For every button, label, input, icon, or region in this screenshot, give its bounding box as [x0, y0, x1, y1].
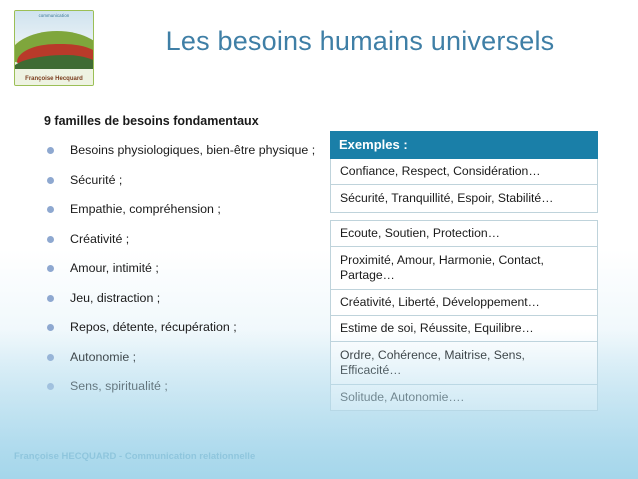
logo-name: Françoise Hecquard — [15, 76, 93, 82]
bullet-dot-icon — [47, 147, 54, 154]
list-item-label: Besoins physiologiques, bien-être physiq… — [70, 143, 315, 157]
table-row: Ordre, Cohérence, Maitrise, Sens, Effica… — [330, 342, 598, 385]
table-row: Solitude, Autonomie…. — [330, 385, 598, 411]
list-item: Sens, spiritualité ; — [44, 378, 319, 394]
bullet-dot-icon — [47, 265, 54, 272]
list-item: Créativité ; — [44, 231, 319, 247]
list-item-label: Amour, intimité ; — [70, 261, 159, 275]
list-item: Sécurité ; — [44, 172, 319, 188]
list-item: Empathie, compréhension ; — [44, 201, 319, 217]
table-row: Confiance, Respect, Considération… — [330, 159, 598, 185]
table-row: Ecoute, Soutien, Protection… — [330, 220, 598, 247]
logo: communication Françoise Hecquard — [14, 10, 94, 86]
section-subtitle: 9 familles de besoins fondamentaux — [44, 114, 259, 128]
list-item-label: Sens, spiritualité ; — [70, 379, 168, 393]
table-row: Estime de soi, Réussite, Equilibre… — [330, 316, 598, 342]
list-item: Jeu, distraction ; — [44, 290, 319, 306]
list-item-label: Sécurité ; — [70, 173, 122, 187]
logo-top-text: communication — [15, 13, 93, 18]
table-row: Proximité, Amour, Harmonie, Contact, Par… — [330, 247, 598, 290]
needs-list: Besoins physiologiques, bien-être physiq… — [44, 142, 319, 408]
bullet-dot-icon — [47, 236, 54, 243]
list-item-label: Créativité ; — [70, 232, 129, 246]
list-item: Amour, intimité ; — [44, 260, 319, 276]
bullet-dot-icon — [47, 206, 54, 213]
list-item: Besoins physiologiques, bien-être physiq… — [44, 142, 319, 158]
examples-header: Exemples : — [330, 131, 598, 159]
footer-text: Françoise HECQUARD - Communication relat… — [14, 451, 255, 462]
bullet-dot-icon — [47, 354, 54, 361]
bullet-dot-icon — [47, 324, 54, 331]
page-title: Les besoins humains universels — [100, 26, 620, 57]
slide: communication Françoise Hecquard Les bes… — [0, 0, 638, 479]
examples-panel: Exemples : Confiance, Respect, Considéra… — [330, 131, 598, 411]
list-item-label: Empathie, compréhension ; — [70, 202, 221, 216]
list-item: Repos, détente, récupération ; — [44, 319, 319, 335]
list-item: Autonomie ; — [44, 349, 319, 365]
bullet-dot-icon — [47, 383, 54, 390]
list-item-label: Jeu, distraction ; — [70, 291, 160, 305]
table-row: Sécurité, Tranquillité, Espoir, Stabilit… — [330, 185, 598, 213]
list-item-label: Repos, détente, récupération ; — [70, 320, 237, 334]
bullet-dot-icon — [47, 177, 54, 184]
bullet-dot-icon — [47, 295, 54, 302]
table-row: Créativité, Liberté, Développement… — [330, 290, 598, 316]
list-item-label: Autonomie ; — [70, 350, 136, 364]
